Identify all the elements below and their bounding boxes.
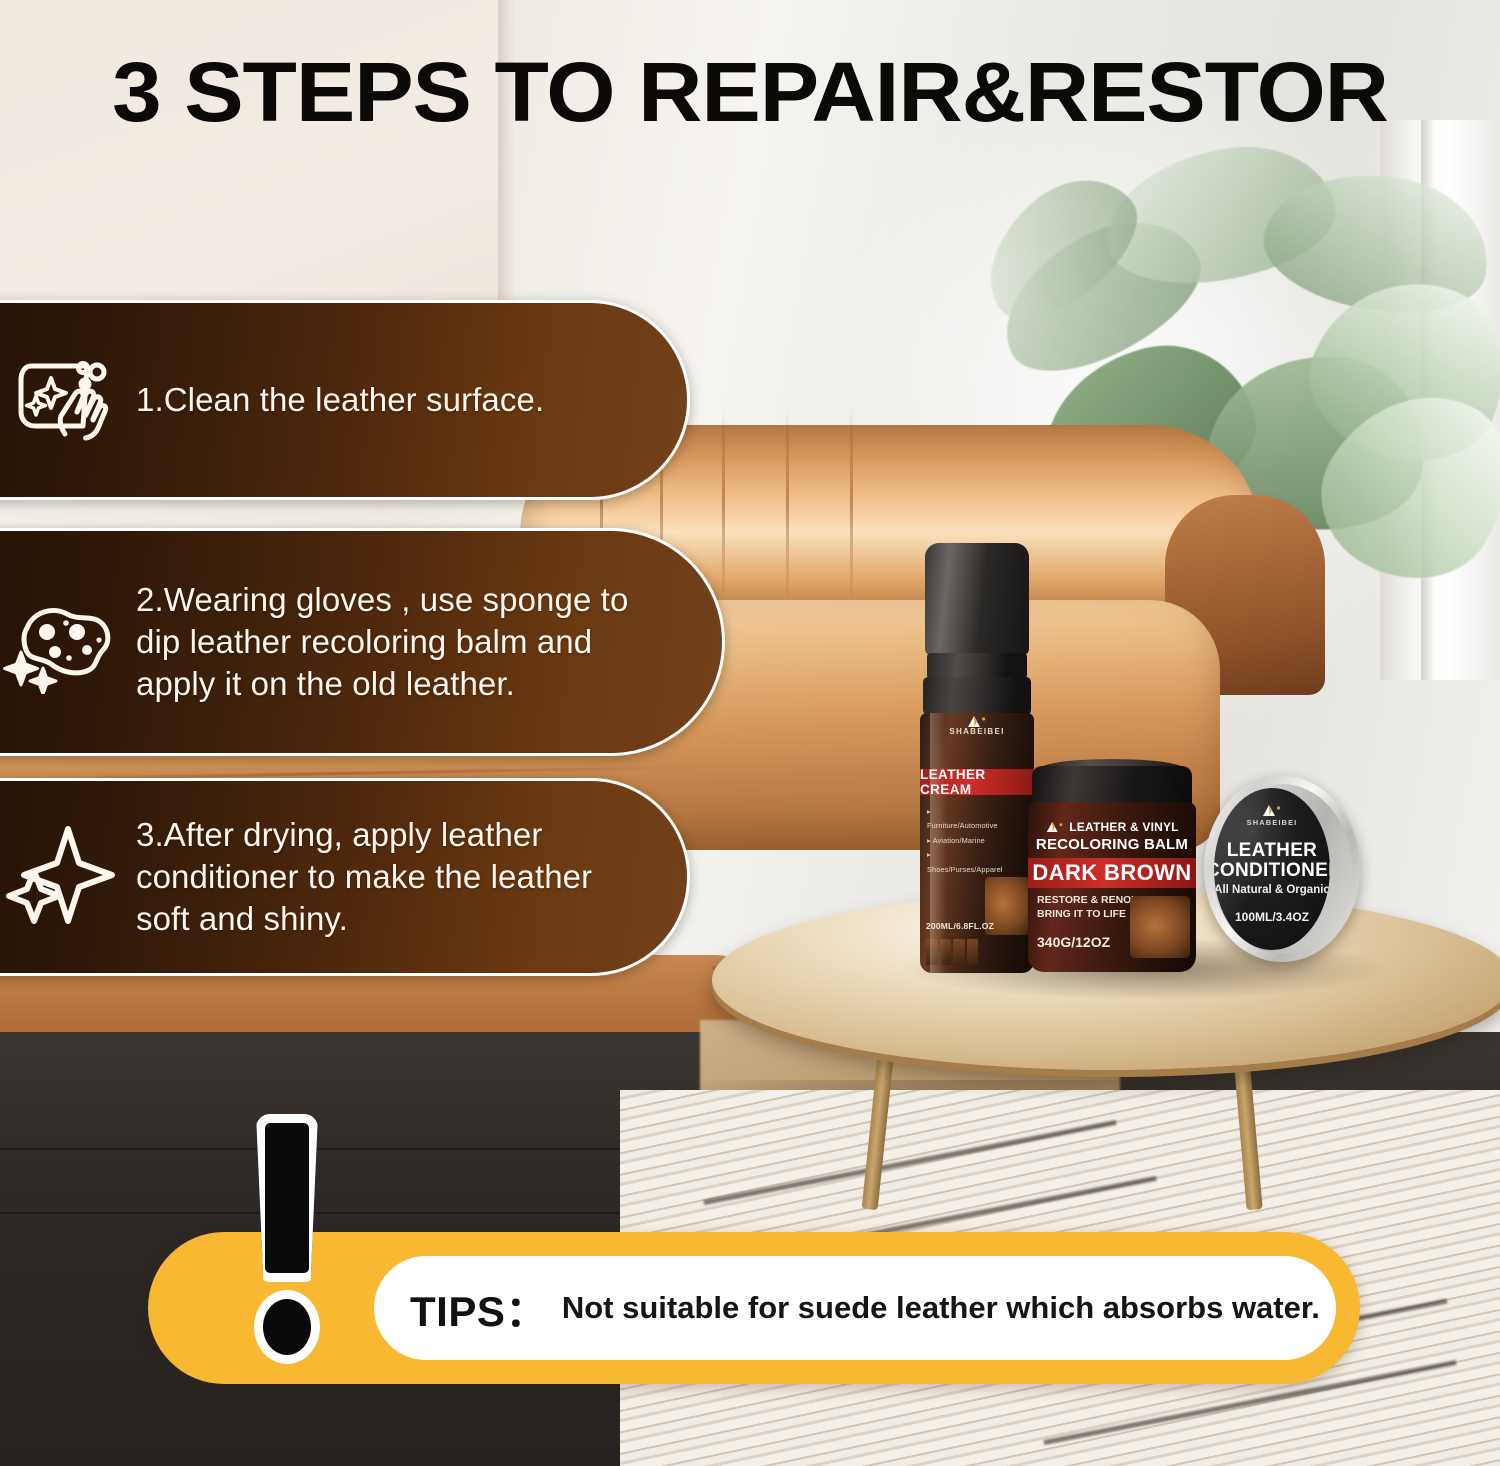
tin-name-line-1: LEATHER <box>1214 840 1330 862</box>
brand-logo-icon <box>1045 821 1065 833</box>
infographic-canvas: SHABEIBEI LEATHER CREAM Furniture/Automo… <box>0 0 1500 1466</box>
exclamation-bar <box>256 1114 318 1282</box>
tin-brand: SHABEIBEI <box>1214 818 1330 827</box>
tin-volume: 100ML/3.4OZ <box>1214 910 1330 924</box>
product-leather-cream-bottle: SHABEIBEI LEATHER CREAM Furniture/Automo… <box>916 543 1038 973</box>
jar-shade-band: DARK BROWN <box>1028 858 1196 888</box>
bottle-neck <box>923 677 1031 715</box>
bottle-collar <box>927 653 1027 679</box>
page-title: 3 STEPS TO REPAIR&RESTOR <box>0 44 1500 141</box>
jar-armchair-image <box>1130 896 1190 958</box>
jar-volume: 340G/12OZ <box>1037 934 1110 950</box>
tin-tagline: All Natural & Organic <box>1214 884 1330 896</box>
step-panel-2: 2.Wearing gloves , use sponge to dip lea… <box>0 528 725 756</box>
sponge-sparkle-icon <box>0 590 136 694</box>
bottle-label-body: SHABEIBEI LEATHER CREAM Furniture/Automo… <box>920 713 1034 973</box>
step-1-text: 1.Clean the leather surface. <box>136 379 588 421</box>
tin-name-line-2: CONDITIONER <box>1214 860 1330 882</box>
hand-wipe-cloth-icon <box>0 348 136 452</box>
step-panel-3: 3.After drying, apply leather conditione… <box>0 778 690 976</box>
jar-product-name: RECOLORING BALM <box>1028 836 1196 853</box>
product-leather-conditioner-tin: SHABEIBEI LEATHER CONDITIONER All Natura… <box>1204 776 1360 962</box>
tips-message: Not suitable for suede leather which abs… <box>562 1290 1320 1326</box>
bottle-gloss-highlight <box>930 713 946 973</box>
jar-label-body: LEATHER & VINYL RECOLORING BALM DARK BRO… <box>1028 802 1196 972</box>
tips-label: TIPS： <box>410 1278 548 1339</box>
tips-text-container: TIPS： Not suitable for suede leather whi… <box>374 1256 1336 1360</box>
step-panel-1: 1.Clean the leather surface. <box>0 300 690 500</box>
exclamation-mark-icon <box>240 1114 350 1364</box>
sparkle-shine-icon <box>0 825 136 929</box>
jar-brand-row: LEATHER & VINYL <box>1028 820 1196 834</box>
jar-shade: DARK BROWN <box>1032 860 1191 886</box>
jar-category: LEATHER & VINYL <box>1069 820 1178 834</box>
step-2-text: 2.Wearing gloves , use sponge to dip lea… <box>136 579 722 706</box>
tips-banner: TIPS： Not suitable for suede leather whi… <box>148 1232 1360 1384</box>
product-recoloring-balm-jar: LEATHER & VINYL RECOLORING BALM DARK BRO… <box>1026 766 1198 972</box>
exclamation-dot <box>254 1290 320 1364</box>
bottle-cap <box>925 543 1029 655</box>
step-3-text: 3.After drying, apply leather conditione… <box>136 814 687 941</box>
tin-label-face: SHABEIBEI LEATHER CONDITIONER All Natura… <box>1214 788 1330 950</box>
